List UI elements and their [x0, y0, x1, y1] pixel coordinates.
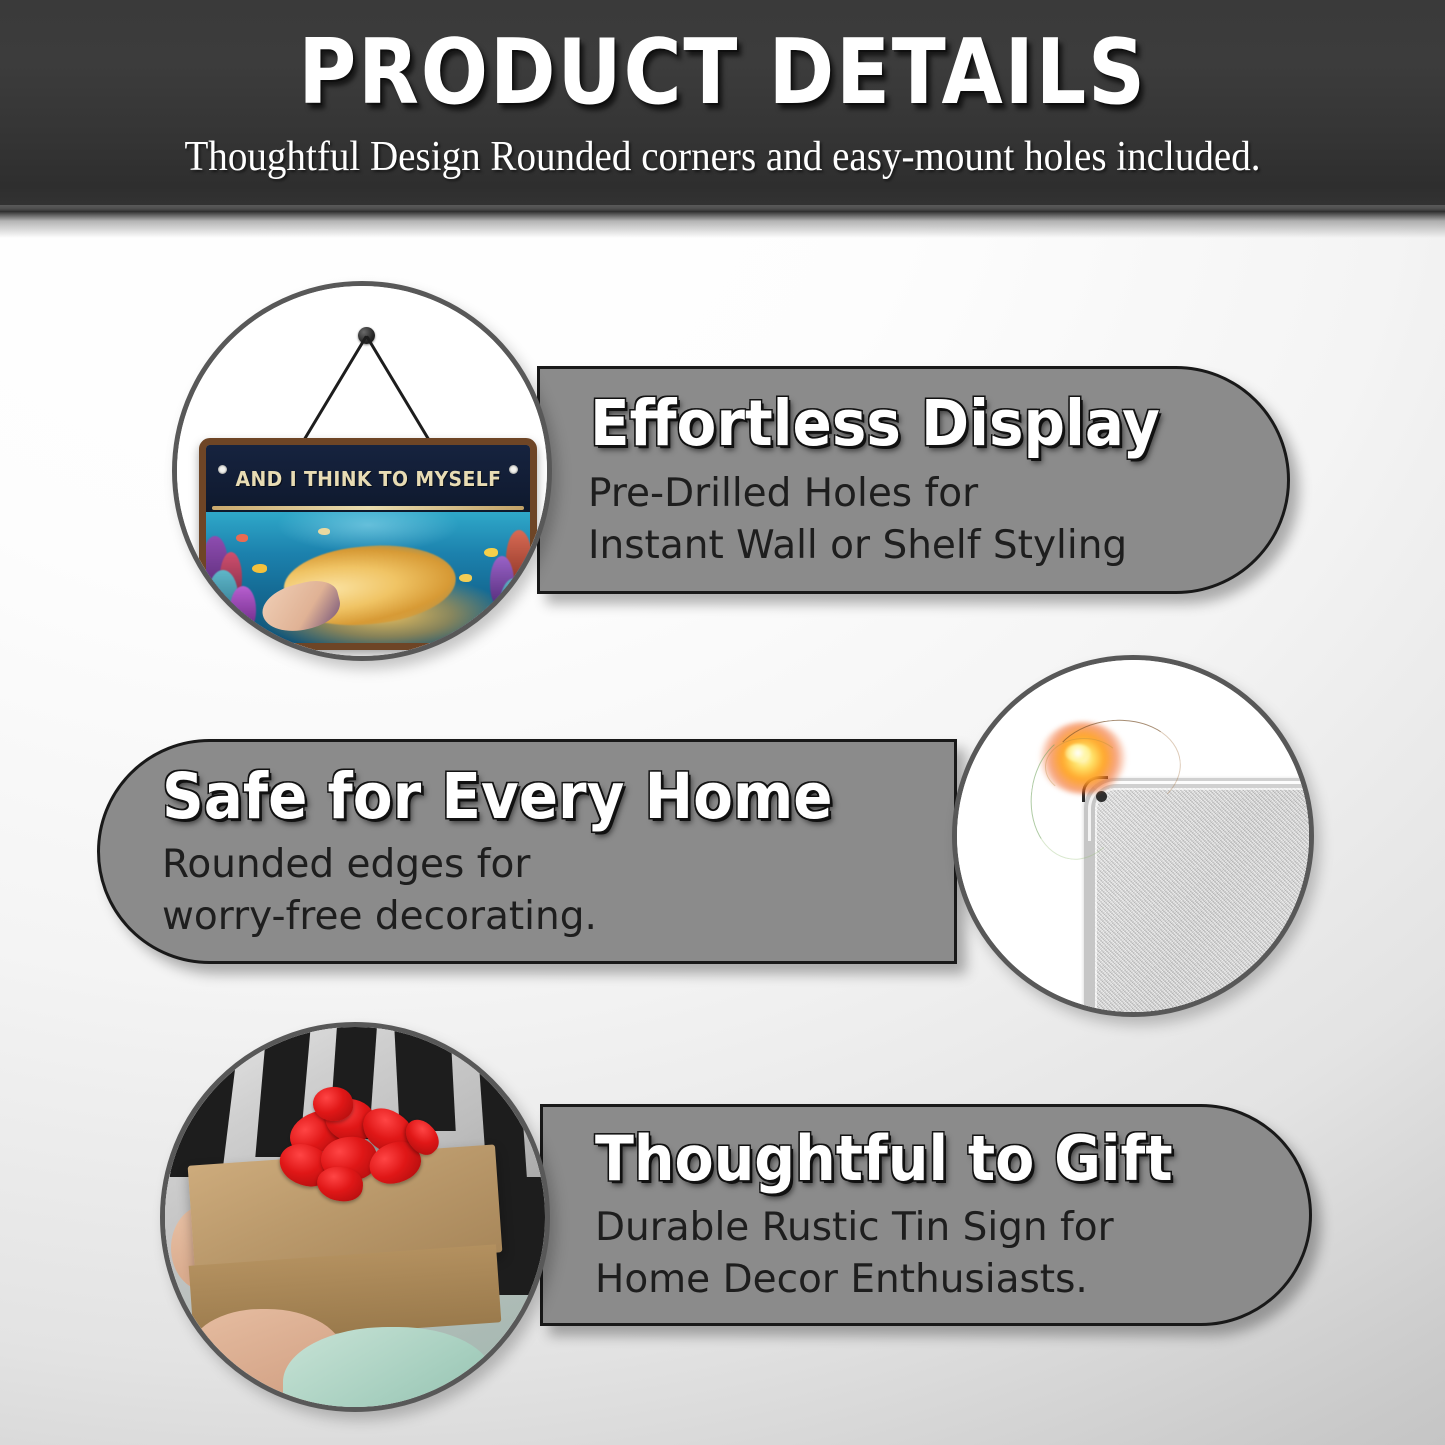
spark-arc-3	[1045, 738, 1123, 796]
feature-body-line2-safe-for-every-home: worry-free decorating.	[162, 892, 597, 942]
feature-pill-content: Effortless Display Pre-Drilled Holes for…	[540, 369, 1287, 591]
mermaid-body	[258, 576, 345, 640]
mount-hole-right	[509, 465, 518, 474]
feature-pill-content: Safe for Every Home Rounded edges for wo…	[100, 742, 954, 961]
metal-corner-scene	[957, 660, 1309, 1012]
page-title: PRODUCT DETAILS	[87, 22, 1359, 124]
page-subtitle: Thoughtful Design Rounded corners and ea…	[51, 131, 1395, 183]
tin-sign-scene: AND I THINK TO MYSELF	[177, 286, 547, 656]
tin-sign-banner: AND I THINK TO MYSELF	[206, 445, 530, 512]
feature-body-line2-effortless-display: Instant Wall or Shelf Styling	[588, 521, 1127, 571]
feature-image-hanging-tin-sign: AND I THINK TO MYSELF	[172, 281, 552, 661]
gift-box-scene	[165, 1027, 545, 1407]
tin-sign-text: AND I THINK TO MYSELF	[235, 467, 501, 491]
feature-image-rounded-metal-corner	[952, 655, 1314, 1017]
feature-title-thoughtful-to-gift: Thoughtful to Gift	[595, 1123, 1173, 1195]
feature-title-effortless-display: Effortless Display	[590, 387, 1160, 461]
feature-image-gift-box	[160, 1022, 550, 1412]
fish-2	[484, 548, 498, 557]
feature-body-line1-thoughtful-to-gift: Durable Rustic Tin Sign for	[595, 1203, 1114, 1253]
product-details-infographic: PRODUCT DETAILS Thoughtful Design Rounde…	[0, 0, 1445, 1445]
coral-4	[230, 586, 256, 632]
feature-pill-effortless-display: Effortless Display Pre-Drilled Holes for…	[537, 366, 1290, 594]
feature-body-line1-safe-for-every-home: Rounded edges for	[162, 840, 530, 890]
fish-1	[252, 564, 267, 573]
header-banner: PRODUCT DETAILS Thoughtful Design Rounde…	[0, 0, 1445, 212]
feature-title-safe-for-every-home: Safe for Every Home	[162, 760, 833, 834]
feature-body-line1-effortless-display: Pre-Drilled Holes for	[588, 469, 978, 519]
fish-4	[459, 574, 472, 582]
feature-pill-thoughtful-to-gift: Thoughtful to Gift Durable Rustic Tin Si…	[540, 1104, 1312, 1326]
coral-7	[500, 578, 530, 628]
fish-3	[236, 534, 248, 542]
header-fade-divider	[0, 212, 1445, 238]
feature-pill-safe-for-every-home: Safe for Every Home Rounded edges for wo…	[97, 739, 957, 964]
shirt-stripe-4	[394, 1027, 455, 1131]
feature-body-line2-thoughtful-to-gift: Home Decor Enthusiasts.	[595, 1255, 1088, 1305]
fish-5	[318, 528, 330, 535]
tin-sign-plaque: AND I THINK TO MYSELF	[199, 438, 537, 650]
feature-pill-content: Thoughtful to Gift Durable Rustic Tin Si…	[543, 1107, 1309, 1323]
mount-hole-left	[218, 465, 227, 474]
underwater-artwork	[206, 512, 530, 643]
